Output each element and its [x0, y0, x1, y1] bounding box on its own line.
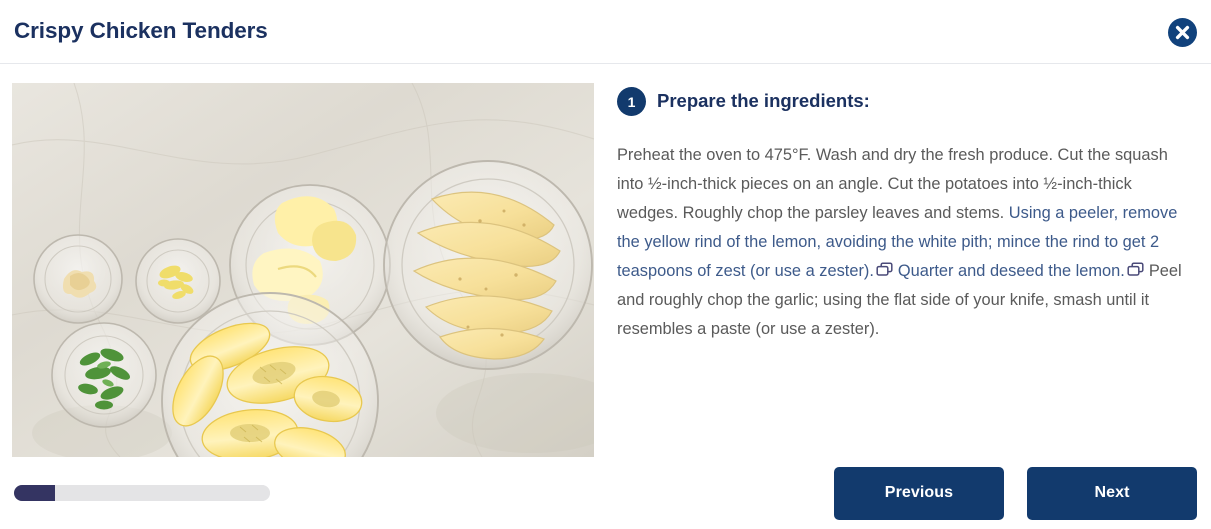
- copy-icon[interactable]: [1127, 262, 1144, 278]
- step-progress-bar[interactable]: [14, 485, 270, 501]
- progress-segment[interactable]: [100, 485, 141, 501]
- progress-segment[interactable]: [57, 485, 98, 501]
- close-button[interactable]: [1168, 18, 1197, 47]
- next-button[interactable]: Next: [1027, 467, 1197, 520]
- recipe-photo-illustration: [12, 83, 594, 457]
- progress-segment[interactable]: [143, 485, 184, 501]
- copy-icon[interactable]: [876, 262, 893, 278]
- progress-segment[interactable]: [186, 485, 227, 501]
- modal-body: 1 Prepare the ingredients: Preheat the o…: [0, 64, 1211, 457]
- page-title: Crispy Chicken Tenders: [14, 20, 268, 43]
- close-circle-icon: [1168, 18, 1197, 47]
- step-panel: 1 Prepare the ingredients: Preheat the o…: [594, 83, 1197, 344]
- step-title: Prepare the ingredients:: [657, 91, 870, 111]
- step-header: 1 Prepare the ingredients:: [617, 87, 1197, 116]
- recipe-photo: [12, 83, 594, 457]
- progress-segment[interactable]: [229, 485, 270, 501]
- modal-header: Crispy Chicken Tenders: [0, 0, 1211, 64]
- copy-icon-glyph: [1127, 262, 1144, 278]
- instruction-segment-3: Quarter and deseed the lemon.: [898, 262, 1125, 280]
- copy-icon-glyph: [876, 262, 893, 278]
- modal-footer: Previous Next: [0, 457, 1211, 529]
- progress-segment[interactable]: [14, 485, 55, 501]
- previous-button[interactable]: Previous: [834, 467, 1004, 520]
- step-instructions: Preheat the oven to 475°F. Wash and dry …: [617, 141, 1197, 344]
- step-number-badge: 1: [617, 87, 646, 116]
- footer-actions: Previous Next: [834, 467, 1197, 520]
- recipe-step-modal: Crispy Chicken Tenders: [0, 0, 1211, 529]
